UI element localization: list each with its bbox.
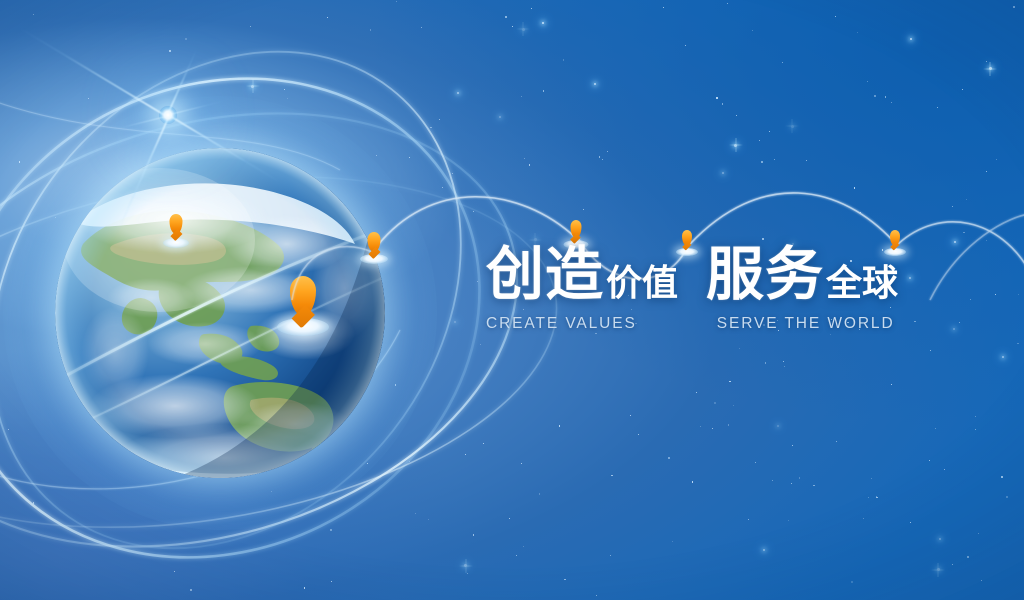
vignette-overlay	[0, 0, 1024, 600]
banner-stage: 创造 价值 服务 全球 CREATE VALUES SERVE THE WORL…	[0, 0, 1024, 600]
